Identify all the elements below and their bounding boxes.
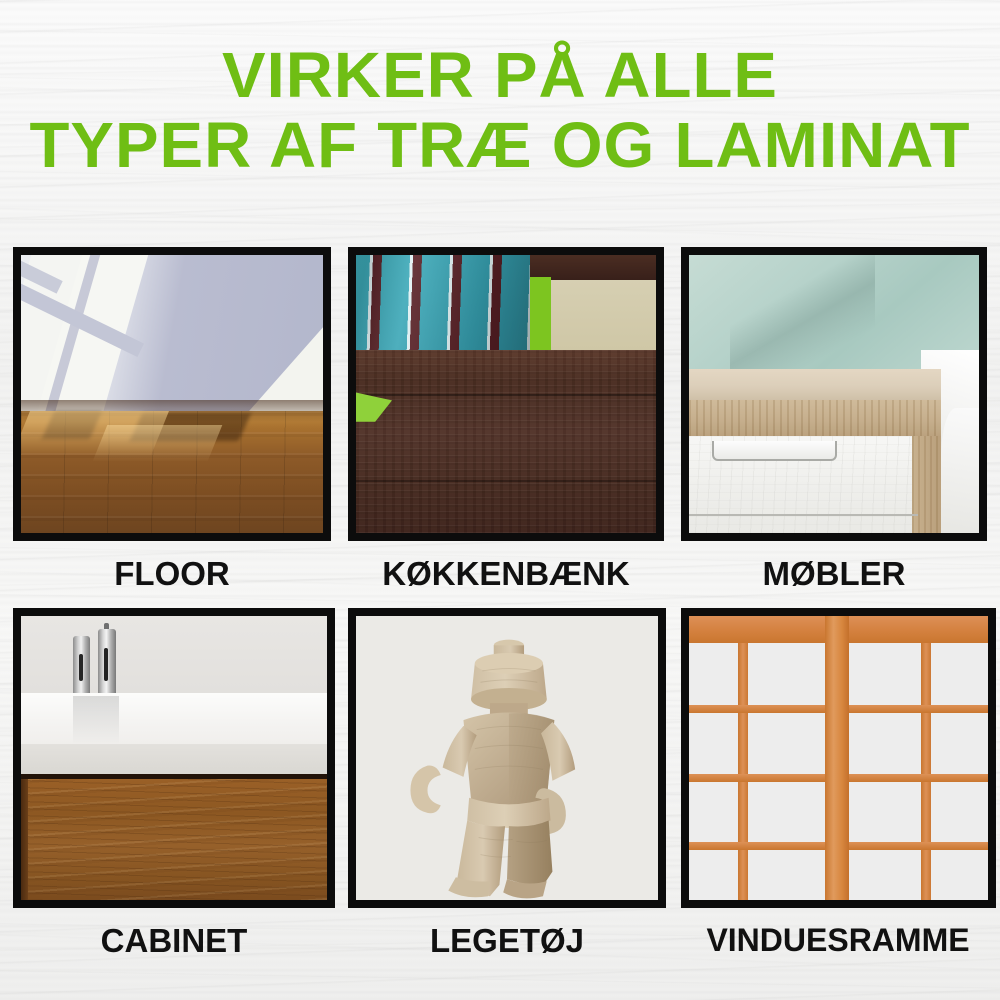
caption-cabinet: CABINET — [13, 924, 335, 957]
caption-window-frame: VINDUESRAMME — [676, 924, 1000, 956]
pepper-grinder-right — [98, 629, 116, 697]
tile-window-frame-image — [689, 616, 988, 900]
countertop-edge — [21, 744, 327, 775]
tile-cabinet[interactable] — [13, 608, 335, 908]
grinder-reflection — [73, 696, 119, 744]
drawer-divider-line — [689, 514, 918, 516]
drawer-handle — [712, 441, 837, 460]
table-top — [689, 369, 941, 400]
walnut-countertop — [356, 350, 656, 533]
tile-kitchen-counter[interactable] — [348, 247, 664, 541]
cabinet-left-edge — [21, 779, 28, 900]
poster-root: VIRKER PÅ ALLE TYPER AF TRÆ OG LAMINAT F — [0, 0, 1000, 1000]
mullion-vertical-1 — [738, 643, 748, 900]
caption-furniture: MØBLER — [681, 557, 987, 590]
caption-toy: LEGETØJ — [348, 924, 666, 957]
tile-toy-image — [356, 616, 658, 900]
green-accent-strip — [530, 277, 551, 349]
pepper-grinder-left — [73, 636, 90, 696]
striped-towel — [356, 255, 530, 350]
scene-window-frame — [689, 616, 988, 900]
floor-sunlight-patch-2 — [92, 425, 221, 461]
headline-line-2: TYPER AF TRÆ OG LAMINAT — [0, 116, 1000, 176]
tile-floor[interactable] — [13, 247, 331, 541]
headline-line-1: VIRKER PÅ ALLE — [0, 46, 1000, 106]
headline: VIRKER PÅ ALLE TYPER AF TRÆ OG LAMINAT — [0, 46, 1000, 175]
grinder-slot — [104, 648, 108, 681]
scene-hardwood-floor — [21, 255, 323, 533]
table-edge — [689, 400, 941, 436]
grinder-knob — [104, 623, 108, 630]
caption-kitchen-counter: KØKKENBÆNK — [348, 557, 664, 590]
table-leg — [912, 436, 941, 533]
tile-toy[interactable] — [348, 608, 666, 908]
window-center-stile — [825, 616, 849, 900]
white-pillow — [941, 408, 979, 533]
caption-floor: FLOOR — [13, 557, 331, 590]
walnut-cabinet-door — [21, 779, 327, 900]
tile-furniture-image — [689, 255, 979, 533]
tile-furniture[interactable] — [681, 247, 987, 541]
scene-cabinet — [21, 616, 327, 900]
tile-cabinet-image — [21, 616, 327, 900]
beige-cabinet-panel — [551, 280, 656, 350]
scene-wooden-toy — [356, 616, 658, 900]
scene-kitchen-counter — [356, 255, 656, 533]
towel-shading — [356, 255, 530, 350]
back-wall — [21, 616, 327, 693]
countertop-seam-1 — [356, 394, 656, 396]
wall-shadow — [730, 255, 875, 372]
scene-furniture — [689, 255, 979, 533]
wooden-minifigure-icon — [356, 616, 658, 900]
tile-kitchen-counter-image — [356, 255, 656, 533]
mullion-vertical-2 — [921, 643, 931, 900]
countertop-seam-2 — [356, 480, 656, 482]
grinder-slot — [79, 654, 83, 681]
tile-window-frame[interactable] — [681, 608, 996, 908]
tile-floor-image — [21, 255, 323, 533]
